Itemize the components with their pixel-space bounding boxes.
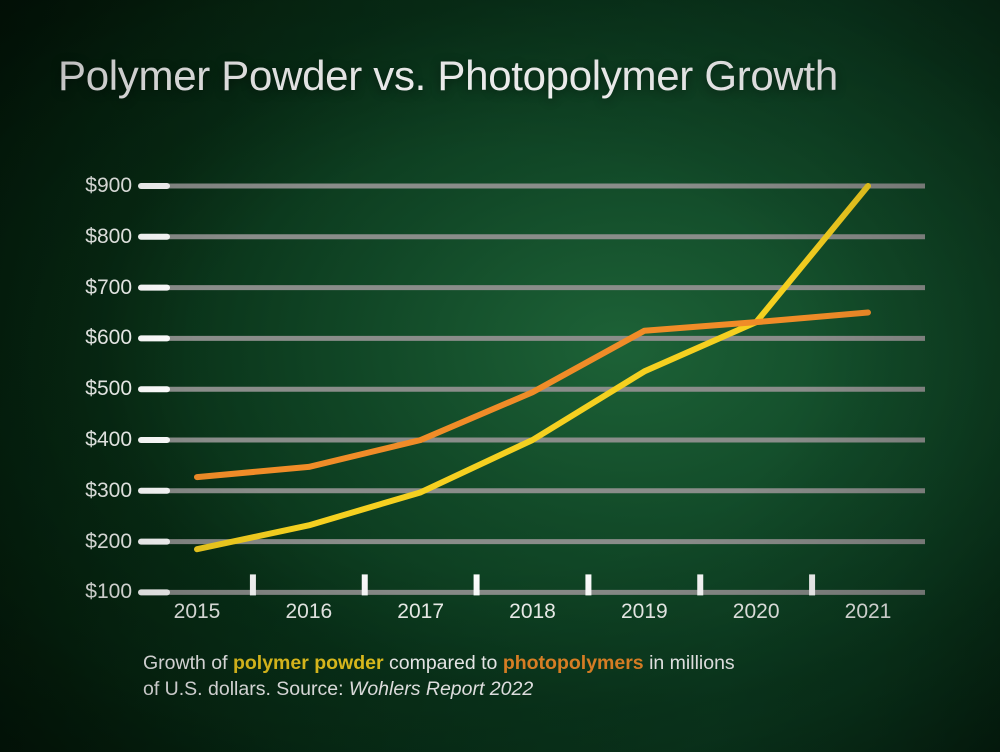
gridlines-group [141, 186, 925, 542]
caption-text-2: compared to [384, 652, 503, 674]
y-axis-tick-label: $300 [58, 479, 132, 503]
y-axis-labels: $900$800$700$600$500$400$300$200$100 [58, 0, 132, 752]
y-axis-tick-label: $200 [58, 530, 132, 554]
caption-source: Wohlers Report 2022 [349, 678, 533, 700]
line-chart-plot [0, 0, 1000, 752]
x-axis-tick-label: 2018 [509, 600, 556, 624]
series-line-polymer-powder [197, 186, 868, 549]
x-axis-tick-label: 2021 [845, 600, 892, 624]
x-axis-tick-label: 2017 [397, 600, 444, 624]
y-axis-tick-label: $600 [58, 326, 132, 350]
x-axis-tick-label: 2020 [733, 600, 780, 624]
chart-canvas: Polymer Powder vs. Photopolymer Growth $… [0, 0, 1000, 752]
series-lines-group [197, 186, 868, 549]
x-axis-tick-label: 2016 [285, 600, 332, 624]
caption-series-polymer-powder: polymer powder [233, 652, 384, 674]
y-axis-tick-label: $700 [58, 276, 132, 300]
y-axis-tick-label: $900 [58, 174, 132, 198]
caption-text-1: Growth of [143, 652, 233, 674]
y-axis-tick-label: $400 [58, 428, 132, 452]
x-axis-tick-label: 2019 [621, 600, 668, 624]
y-axis-tick-label: $100 [58, 580, 132, 604]
y-axis-tick-label: $500 [58, 377, 132, 401]
caption-text-3: in millions [644, 652, 735, 674]
y-tick-marks-group [141, 186, 167, 592]
chart-caption: Growth of polymer powder compared to pho… [143, 650, 883, 702]
caption-text-4: of U.S. dollars. Source: [143, 678, 349, 700]
x-axis-tick-label: 2015 [174, 600, 221, 624]
x-axis-group [141, 574, 925, 595]
caption-series-photopolymers: photopolymers [503, 652, 644, 674]
y-axis-tick-label: $800 [58, 225, 132, 249]
